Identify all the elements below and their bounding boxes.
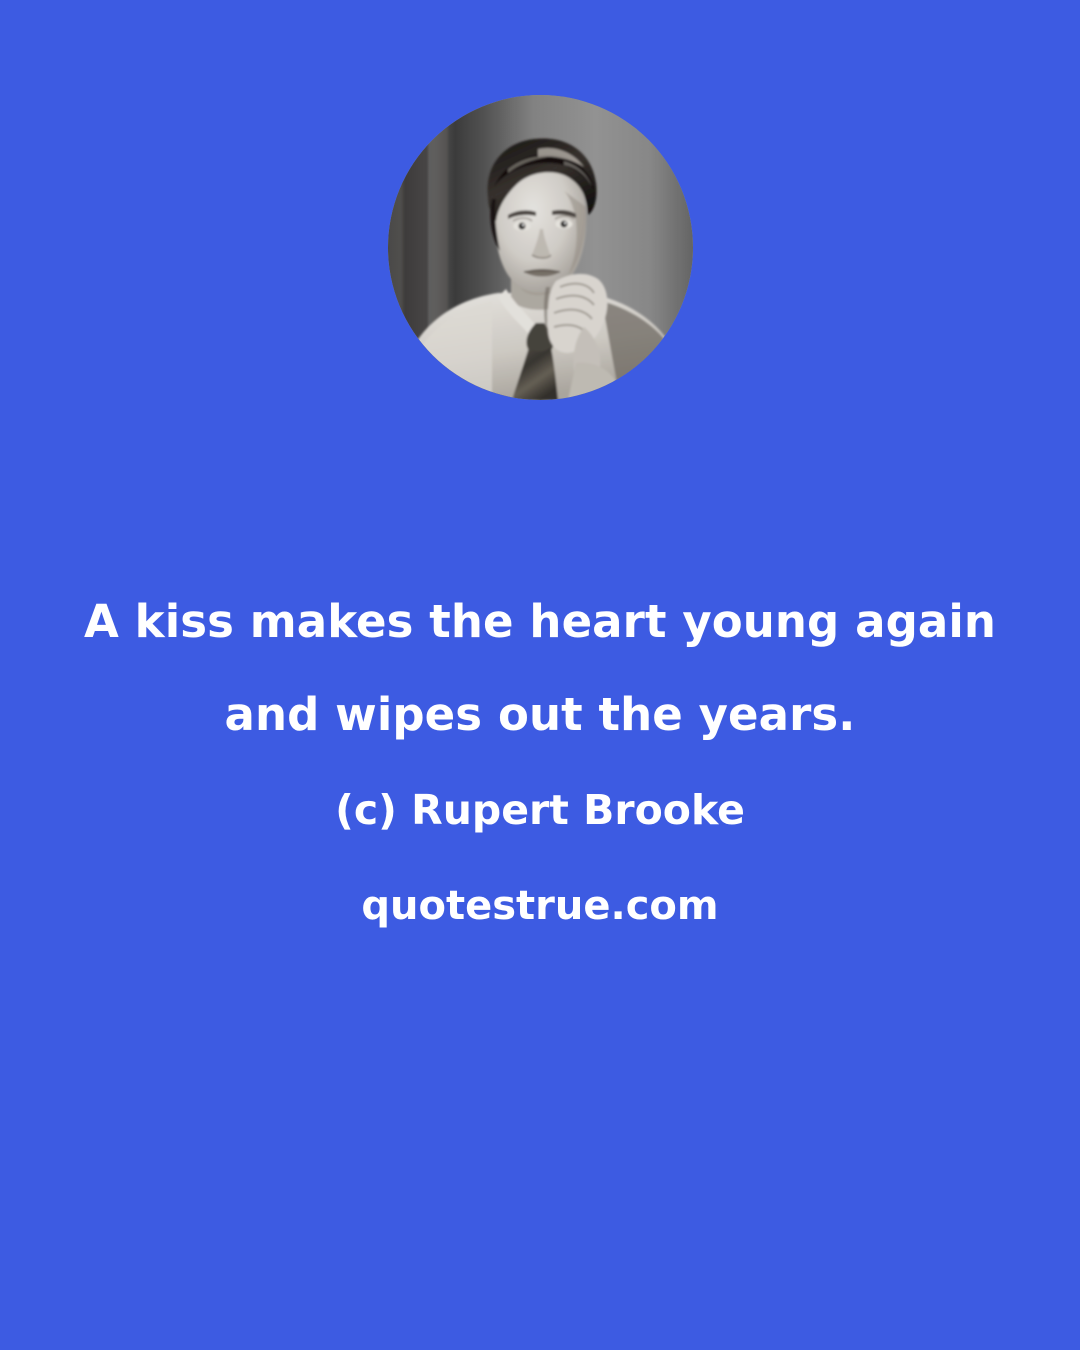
quote-line-1: A kiss makes the heart young again — [0, 575, 1080, 668]
quote-text-block: A kiss makes the heart young again and w… — [0, 575, 1080, 954]
quote-line-2: and wipes out the years. — [0, 668, 1080, 761]
portrait-illustration — [388, 95, 693, 400]
website-watermark: quotestrue.com — [0, 859, 1080, 954]
author-portrait-photo — [388, 95, 693, 400]
quote-attribution: (c) Rupert Brooke — [0, 761, 1080, 859]
quote-card: A kiss makes the heart young again and w… — [0, 0, 1080, 1350]
